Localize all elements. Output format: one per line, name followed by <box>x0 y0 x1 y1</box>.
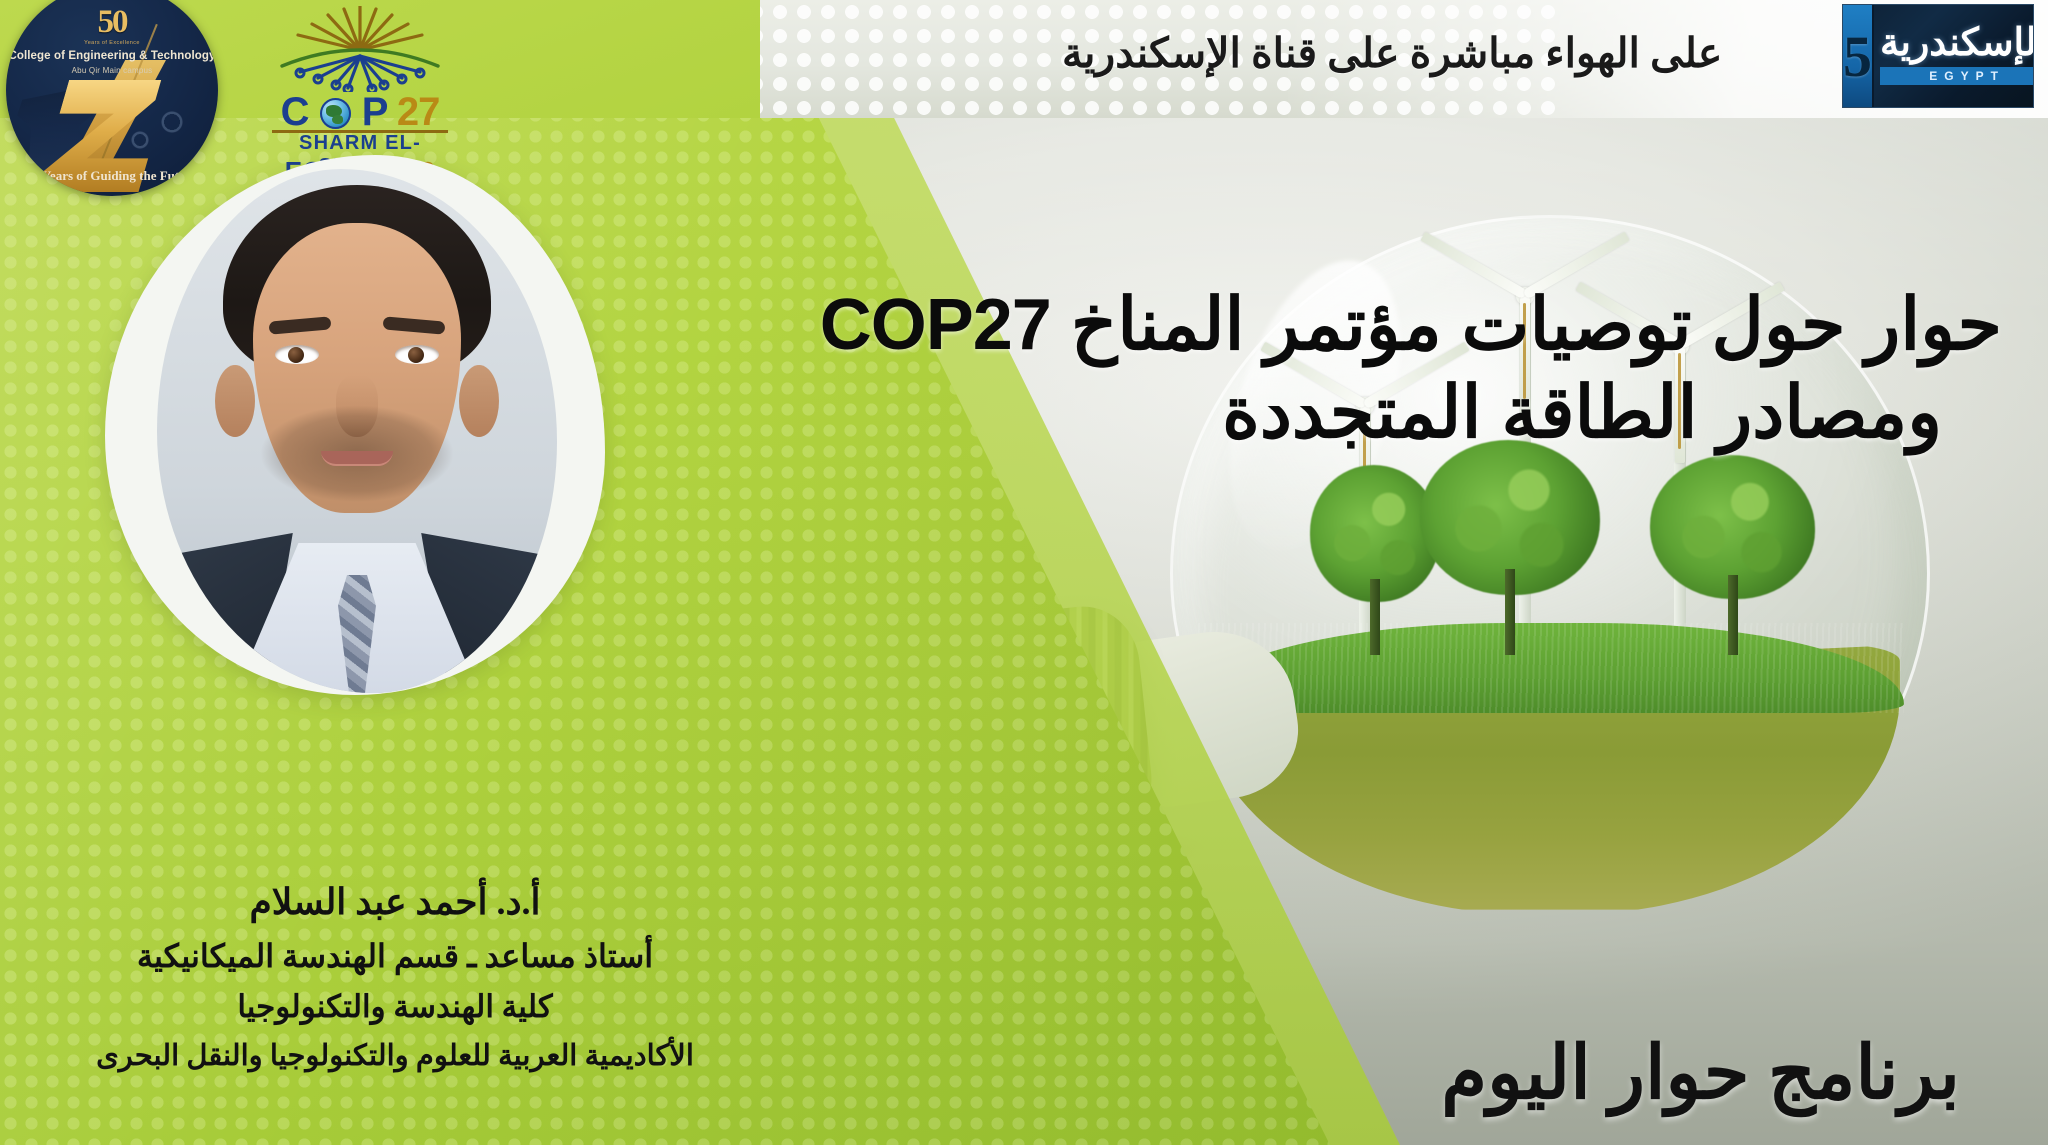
ear-right <box>459 365 499 437</box>
channel-country-label: EGYPT <box>1880 67 2034 85</box>
eye-left <box>275 345 319 364</box>
alexandria-channel-logo: 5 الإسكندرية EGYPT <box>1842 4 2034 108</box>
channel-number: 5 <box>1843 5 1874 107</box>
globe-icon <box>320 98 351 129</box>
cop-letter-c: C <box>281 90 309 134</box>
mouth <box>321 451 393 466</box>
cop27-logo: C P 27 SHARM EL-SHEIKH EGYPT2022 <box>262 6 458 158</box>
anniversary-subtitle: Years of Excellence <box>6 40 218 46</box>
speaker-institution: الأكاديمية العربية للعلوم والتكنولوجيا و… <box>0 1038 790 1076</box>
ear-left <box>215 365 255 437</box>
tree-trunk <box>1370 579 1380 655</box>
broadcast-slide: على الهواء مباشرة على قناة الإسكندرية 5 … <box>0 0 2048 1145</box>
anniversary-number: 50 <box>6 6 218 39</box>
speaker-position: أستاذ مساعد ـ قسم الهندسة الميكانيكية <box>0 935 790 978</box>
cop27-sunburst-icon <box>262 6 458 92</box>
tree-center <box>1420 440 1600 655</box>
tree-trunk <box>1728 575 1738 655</box>
live-broadcast-text: على الهواء مباشرة على قناة الإسكندرية <box>1062 10 1842 96</box>
eye-right <box>395 345 439 364</box>
program-name: برنامج حوار اليوم <box>1441 1030 1960 1117</box>
cop27-wordmark: C P 27 <box>262 92 458 132</box>
speaker-portrait <box>105 155 605 695</box>
channel-name-arabic: الإسكندرية <box>1880 24 2034 62</box>
college-name: College of Engineering & Technology <box>6 50 218 62</box>
channel-name-block: الإسكندرية EGYPT <box>1874 5 2034 107</box>
speaker-name: أ.د. أحمد عبد السلام <box>0 880 790 925</box>
tree-right <box>1650 455 1815 655</box>
tree-trunk <box>1505 569 1515 655</box>
speaker-faculty: كلية الهندسة والتكنولوجيا <box>0 986 790 1028</box>
cop-letter-p: P <box>362 90 387 134</box>
title-line-2: ومصادر الطاقة المتجددة <box>732 370 2002 458</box>
speaker-credentials: أ.د. أحمد عبد السلام أستاذ مساعد ـ قسم ا… <box>0 880 790 1076</box>
cop-number: 27 <box>397 90 440 134</box>
campus-name: Abu Qir Main campus <box>6 66 218 75</box>
page-title: حوار حول توصيات مؤتمر المناخ COP27 ومصاد… <box>732 282 2002 458</box>
title-line-1: حوار حول توصيات مؤتمر المناخ COP27 <box>820 285 2002 365</box>
